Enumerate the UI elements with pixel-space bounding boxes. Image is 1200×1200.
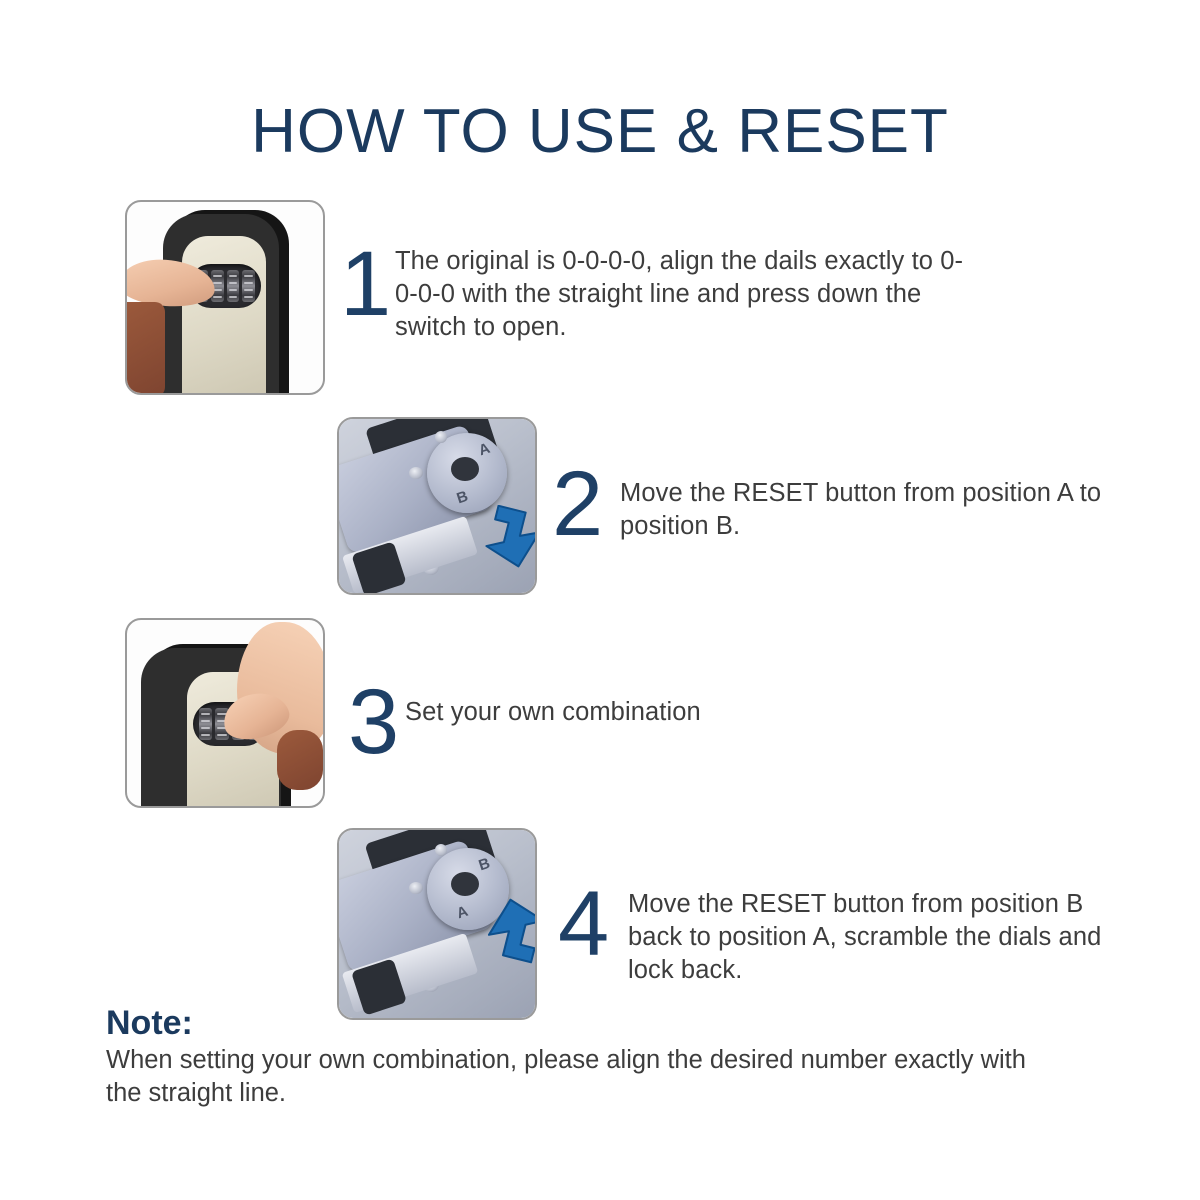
- step-2-number: 2: [552, 458, 603, 550]
- dial-4[interactable]: [242, 270, 255, 302]
- step-2-text: Move the RESET button from position A to…: [620, 477, 1120, 543]
- step-2-photo: A B: [337, 417, 537, 595]
- step-1-number: 1: [340, 238, 391, 330]
- lockbox-hand-illustration: [127, 620, 323, 806]
- step-3-number: 3: [348, 676, 399, 768]
- step-4-text: Move the RESET button from position B ba…: [628, 888, 1118, 987]
- lockbox-front-illustration: [127, 202, 323, 393]
- step-3-photo: [125, 618, 325, 808]
- screw-mid: [409, 882, 423, 894]
- screw-top: [435, 431, 447, 443]
- hand-fingers: [277, 730, 323, 790]
- note-heading: Note:: [106, 1004, 193, 1043]
- arrow-up-right-icon: [481, 892, 537, 969]
- step-3-text: Set your own combination: [405, 696, 945, 729]
- lockbox-interior-illustration-b: B A: [339, 830, 535, 1018]
- reset-button-slot: [451, 457, 479, 481]
- infographic-page: HOW TO USE & RESET 1: [0, 0, 1200, 1200]
- reset-button-slot: [451, 872, 479, 896]
- dial-1[interactable]: [199, 708, 212, 740]
- lockbox-interior-illustration-a: A B: [339, 419, 535, 593]
- page-title: HOW TO USE & RESET: [0, 96, 1200, 167]
- step-4-number: 4: [558, 878, 609, 970]
- note-text: When setting your own combination, pleas…: [106, 1044, 1066, 1110]
- dial-3[interactable]: [227, 270, 240, 302]
- arrow-down-right-icon: [485, 505, 537, 578]
- screw-mid: [409, 467, 423, 479]
- step-1-photo: [125, 200, 325, 395]
- step-1-text: The original is 0-0-0-0, align the dails…: [395, 245, 970, 344]
- step-4-photo: B A: [337, 828, 537, 1020]
- lockbox-faceplate: [182, 236, 266, 395]
- hand-knuckles: [125, 302, 165, 395]
- screw-top: [435, 844, 447, 856]
